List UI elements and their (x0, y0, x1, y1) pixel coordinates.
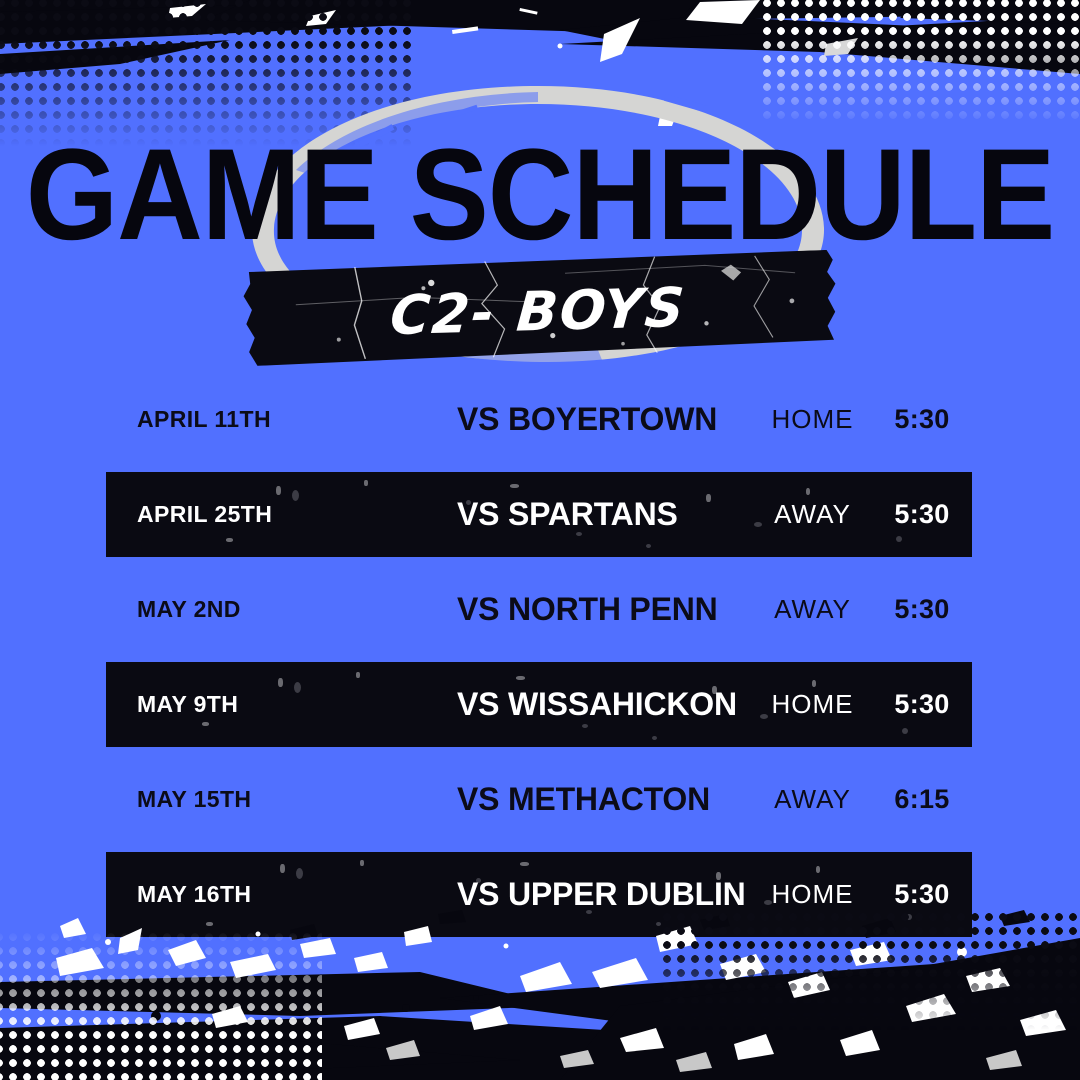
row-opponent: VS WISSAHICKON (457, 657, 742, 752)
row-opponent: VS SPARTANS (457, 467, 742, 562)
halftone-dots-bottom-left (0, 930, 322, 1080)
row-time: 5:30 (862, 562, 982, 657)
row-date: MAY 2ND (137, 562, 437, 657)
row-date: MAY 15TH (137, 752, 437, 847)
schedule-row[interactable]: MAY 2ND VS NORTH PENN AWAY 5:30 (0, 562, 1080, 657)
row-time: 5:30 (862, 847, 982, 942)
subtitle-banner: C2- BOYS (235, 250, 842, 367)
row-location: AWAY (750, 752, 875, 847)
schedule-row[interactable]: MAY 16TH VS UPPER DUBLIN HOME 5:30 (0, 847, 1080, 942)
schedule-row[interactable]: APRIL 11TH VS BOYERTOWN HOME 5:30 (0, 372, 1080, 467)
game-schedule-poster: GAME SCHEDULE C2- BOYS APRIL 11TH (0, 0, 1080, 1080)
row-opponent: VS NORTH PENN (457, 562, 742, 657)
row-date: APRIL 25TH (137, 467, 437, 562)
row-location: HOME (750, 372, 875, 467)
row-date: MAY 9TH (137, 657, 437, 752)
row-opponent: VS UPPER DUBLIN (457, 847, 742, 942)
row-time: 5:30 (862, 372, 982, 467)
row-location: HOME (750, 657, 875, 752)
row-date: MAY 16TH (137, 847, 437, 942)
row-opponent: VS METHACTON (457, 752, 742, 847)
page-title: GAME SCHEDULE (0, 130, 1080, 260)
row-location: HOME (750, 847, 875, 942)
schedule-row[interactable]: MAY 15TH VS METHACTON AWAY 6:15 (0, 752, 1080, 847)
row-time: 6:15 (862, 752, 982, 847)
schedule-row[interactable]: APRIL 25TH VS SPARTANS AWAY 5:30 (0, 467, 1080, 562)
row-opponent: VS BOYERTOWN (457, 372, 742, 467)
schedule-list: APRIL 11TH VS BOYERTOWN HOME 5:30 (0, 372, 1080, 942)
row-time: 5:30 (862, 657, 982, 752)
row-location: AWAY (750, 467, 875, 562)
row-location: AWAY (750, 562, 875, 657)
row-time: 5:30 (862, 467, 982, 562)
schedule-row[interactable]: MAY 9TH VS WISSAHICKON HOME 5:30 (0, 657, 1080, 752)
row-date: APRIL 11TH (137, 372, 437, 467)
